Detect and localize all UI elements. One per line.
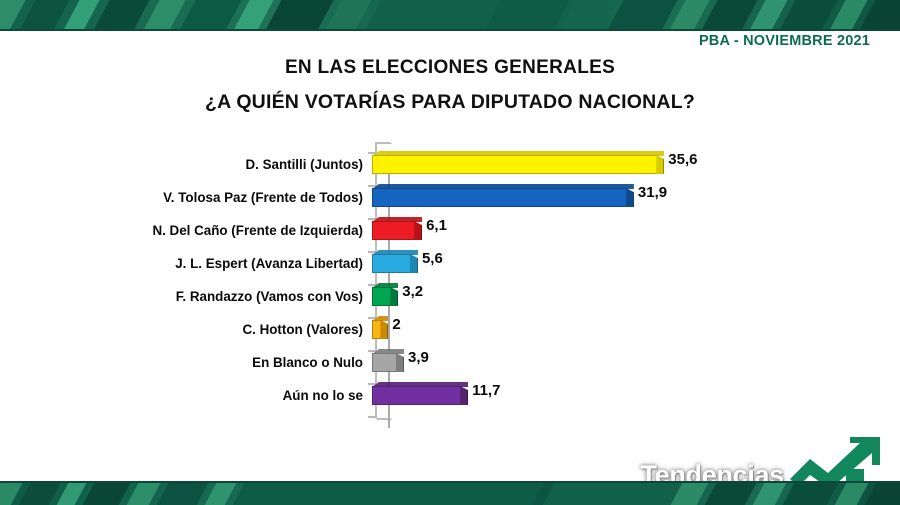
footer-topline (0, 481, 900, 483)
bar-category-label: F. Randazzo (Vamos con Vos) (0, 289, 372, 304)
bar-category-label: En Blanco o Nulo (0, 355, 372, 370)
bar-chart: D. Santilli (Juntos)35,6V. Tolosa Paz (F… (0, 148, 900, 443)
bar-row: D. Santilli (Juntos)35,6 (0, 148, 900, 181)
bar-face (372, 353, 398, 372)
banner-underline (0, 29, 900, 31)
bar-category-label: D. Santilli (Juntos) (0, 157, 372, 172)
bar-rows: D. Santilli (Juntos)35,6V. Tolosa Paz (F… (0, 148, 900, 412)
bar-face (372, 188, 628, 207)
bar-face (372, 155, 658, 174)
bar-side-3d (396, 353, 404, 372)
bar-row: V. Tolosa Paz (Frente de Todos)31,9 (0, 181, 900, 214)
bar-track: 5,6 (372, 247, 900, 280)
bar-track: 6,1 (372, 214, 900, 247)
bar-value-label: 31,9 (638, 184, 667, 201)
bar-track: 11,7 (372, 379, 900, 412)
bar-track: 31,9 (372, 181, 900, 214)
bar-value-label: 2 (392, 316, 400, 333)
bar-category-label: V. Tolosa Paz (Frente de Todos) (0, 190, 372, 205)
page-title-line1: EN LAS ELECCIONES GENERALES (0, 57, 900, 79)
bar-side-3d (410, 254, 418, 273)
bar-row: Aún no lo se11,7 (0, 379, 900, 412)
bar-7 (372, 353, 404, 372)
axis-bottom-edge (375, 418, 405, 431)
bar-value-label: 11,7 (472, 382, 500, 399)
bar-category-label: J. L. Espert (Avanza Libertad) (0, 256, 372, 271)
bar-2 (372, 188, 634, 207)
footer-stripe (535, 481, 681, 505)
bar-track: 3,2 (372, 280, 900, 313)
bar-value-label: 3,9 (408, 349, 429, 366)
bar-track: 2 (372, 313, 900, 346)
bar-face (372, 386, 462, 405)
bar-side-3d (414, 221, 422, 240)
bar-row: J. L. Espert (Avanza Libertad)5,6 (0, 247, 900, 280)
bar-value-label: 6,1 (426, 217, 447, 234)
axis-tick (368, 416, 377, 418)
footer-stripe (225, 481, 551, 505)
bottom-decorative-banner (0, 481, 900, 505)
bar-track: 35,6 (372, 148, 900, 181)
bar-category-label: C. Hotton (Valores) (0, 322, 372, 337)
bar-value-label: 35,6 (668, 151, 697, 168)
bar-1 (372, 155, 664, 174)
region-date-label: PBA - NOVIEMBRE 2021 (699, 33, 870, 49)
top-decorative-banner (0, 0, 900, 31)
bar-8 (372, 386, 468, 405)
banner-stripe (355, 0, 509, 31)
bar-5 (372, 287, 398, 306)
bar-category-label: Aún no lo se (0, 388, 372, 403)
bar-face (372, 287, 392, 306)
bar-3 (372, 221, 422, 240)
bar-value-label: 3,2 (402, 283, 423, 300)
bar-side-3d (626, 188, 634, 207)
bar-track: 3,9 (372, 346, 900, 379)
bar-face (372, 254, 412, 273)
bar-value-label: 5,6 (422, 250, 443, 267)
bar-face (372, 221, 416, 240)
bar-side-3d (390, 287, 398, 306)
bar-side-3d (380, 320, 388, 339)
bar-side-3d (460, 386, 468, 405)
bar-4 (372, 254, 418, 273)
chart-title-block: EN LAS ELECCIONES GENERALES ¿A QUIÉN VOT… (0, 57, 900, 114)
bar-row: En Blanco o Nulo3,9 (0, 346, 900, 379)
bar-category-label: N. Del Caño (Frente de Izquierda) (0, 223, 372, 238)
bar-side-3d (656, 155, 664, 174)
bar-row: N. Del Caño (Frente de Izquierda)6,1 (0, 214, 900, 247)
bar-row: C. Hotton (Valores)2 (0, 313, 900, 346)
bar-6 (372, 320, 388, 339)
page-title-line2: ¿A QUIÉN VOTARÍAS PARA DIPUTADO NACIONAL… (0, 91, 900, 114)
bar-row: F. Randazzo (Vamos con Vos)3,2 (0, 280, 900, 313)
